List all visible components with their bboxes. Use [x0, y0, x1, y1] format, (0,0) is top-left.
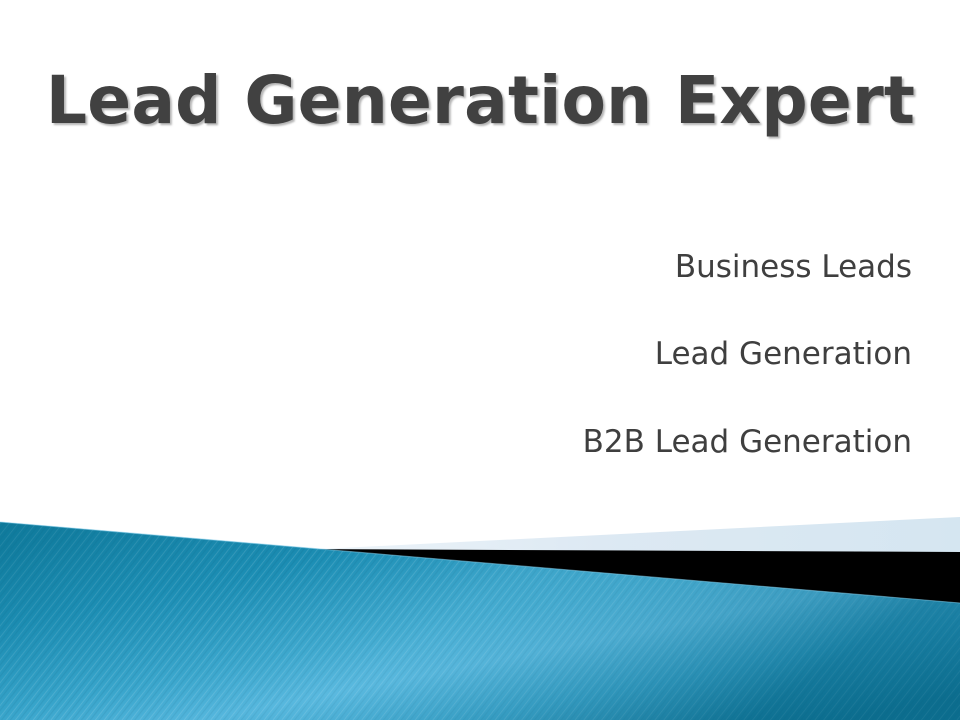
body-line-b2b-lead-generation: B2B Lead Generation — [192, 427, 912, 458]
title-block: Lead Generation Expert — [0, 66, 960, 135]
slide-canvas: Lead Generation Expert Business Leads Le… — [0, 0, 960, 720]
body-text-block: Business Leads Lead Generation B2B Lead … — [192, 252, 912, 458]
pale-blue-wedge — [300, 517, 960, 556]
body-line-business-leads: Business Leads — [192, 252, 912, 283]
body-line-lead-generation: Lead Generation — [192, 339, 912, 370]
black-wedge — [291, 549, 960, 604]
teal-hatch-texture — [0, 500, 960, 720]
teal-wedge — [0, 522, 960, 720]
slide-title: Lead Generation Expert — [45, 66, 914, 135]
